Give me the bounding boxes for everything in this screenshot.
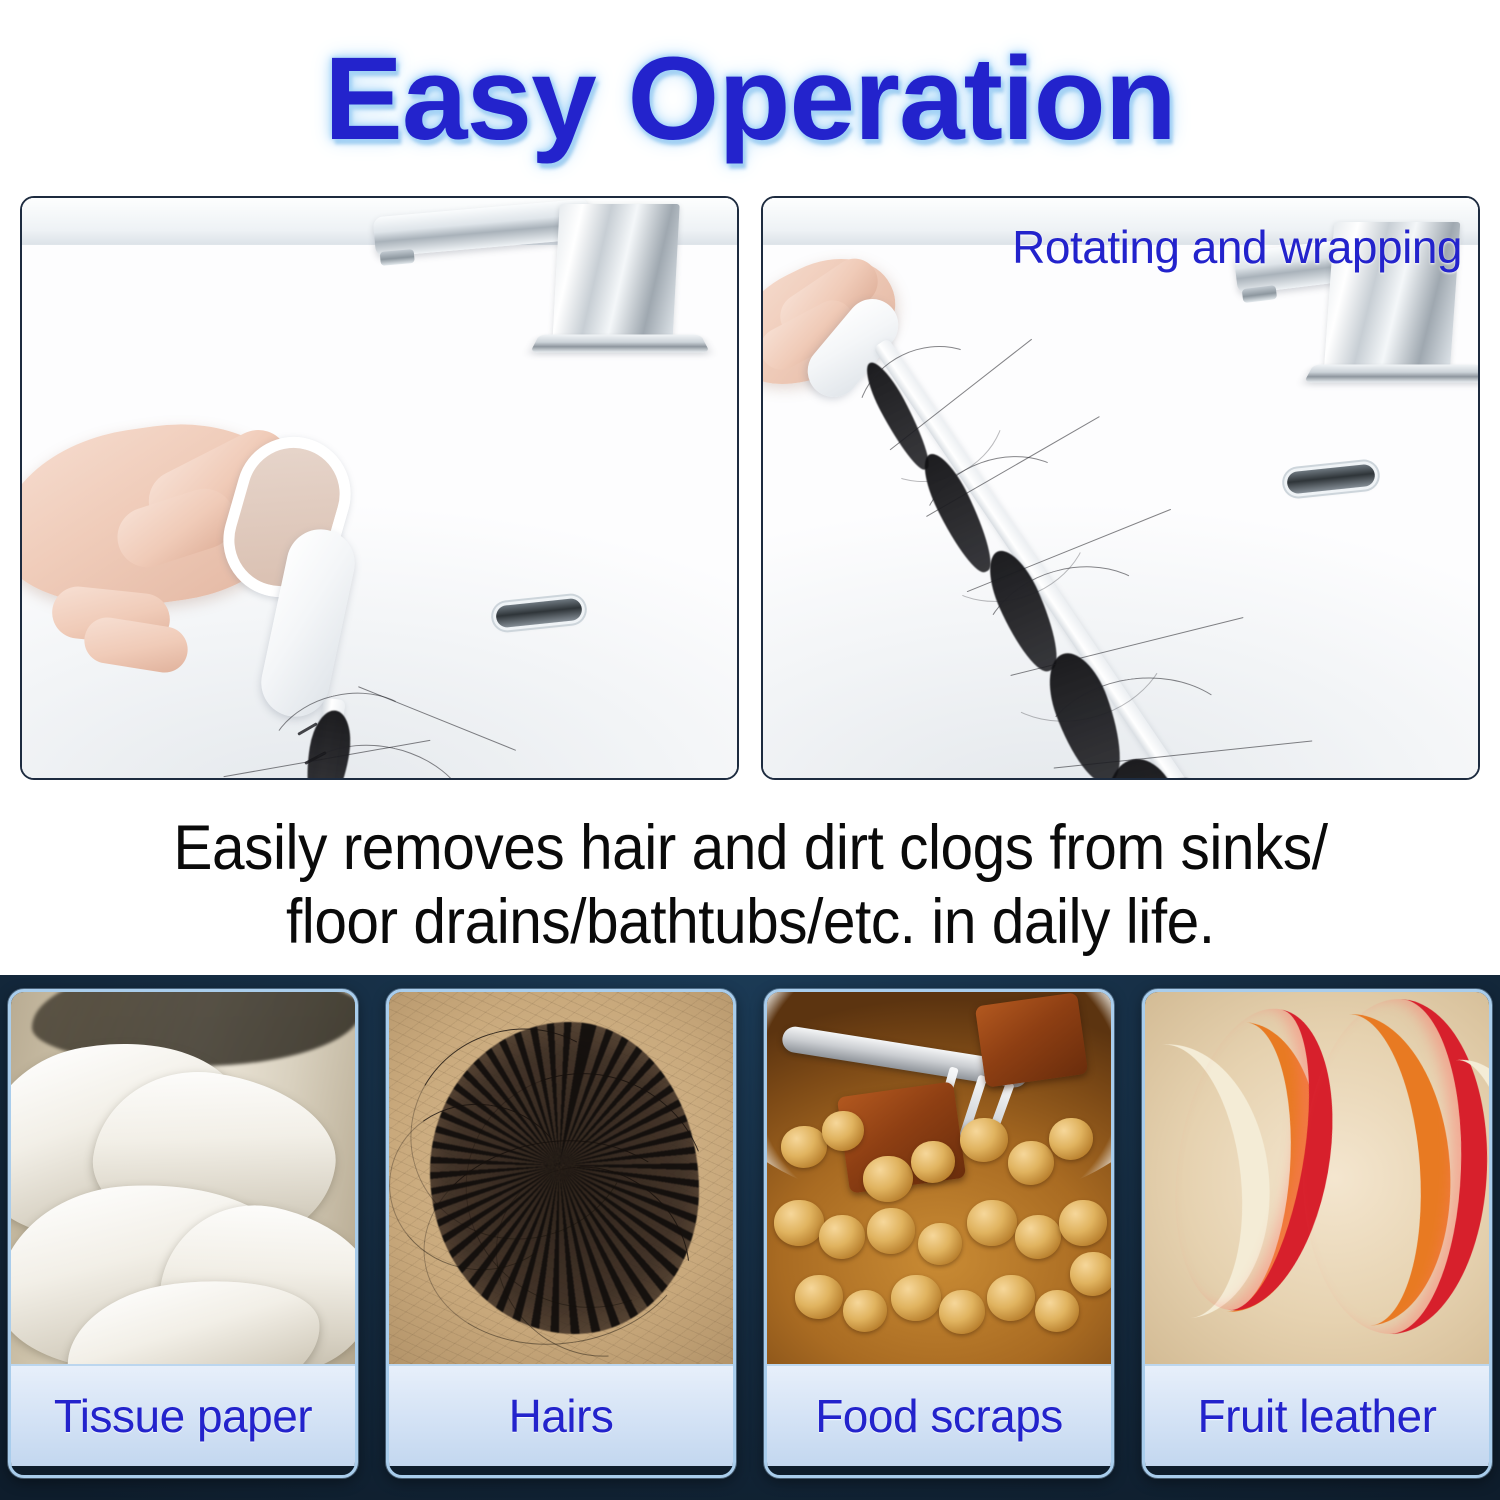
use-case-card-fruit-leather[interactable]: Fruit leather [1142,989,1492,1478]
use-case-card-hairs[interactable]: Hairs [386,989,736,1478]
page-title: Easy Operation [324,40,1176,158]
panel-caption-rotating-and-wrapping: Rotating and wrapping [1012,220,1462,274]
demo-panel-rotating-and-wrapping: Rotating and wrapping [761,196,1480,780]
headline-banner: Easy Operation [0,24,1500,174]
description-line-2: floor drains/bathtubs/etc. in daily life… [286,885,1215,959]
label-text: Tissue paper [54,1389,312,1443]
label-food-scraps: Food scraps [767,1364,1111,1466]
faucet-column [552,204,679,346]
label-text: Hairs [509,1389,614,1443]
use-case-card-tissue-paper[interactable]: Tissue paper [8,989,358,1478]
label-text: Fruit leather [1198,1389,1437,1443]
use-case-strip: Tissue paper Hairs [0,975,1500,1500]
photo-fruit-leather [1145,992,1489,1364]
faucet-base [530,334,710,352]
photo-tissue-paper [11,992,355,1364]
photo-food-scraps [767,992,1111,1364]
description-line-1: Easily removes hair and dirt clogs from … [173,811,1327,885]
label-hairs: Hairs [389,1364,733,1466]
demo-panel-row: Rotating and wrapping [20,196,1480,780]
label-tissue-paper: Tissue paper [11,1364,355,1466]
use-case-card-food-scraps[interactable]: Food scraps [764,989,1114,1478]
description-block: Easily removes hair and dirt clogs from … [0,800,1500,970]
label-text: Food scraps [815,1389,1063,1443]
demo-panel-pulling-hair-out-of-drain [20,196,739,780]
meat-piece [975,993,1089,1088]
photo-hairs [389,992,733,1364]
label-fruit-leather: Fruit leather [1145,1364,1489,1466]
